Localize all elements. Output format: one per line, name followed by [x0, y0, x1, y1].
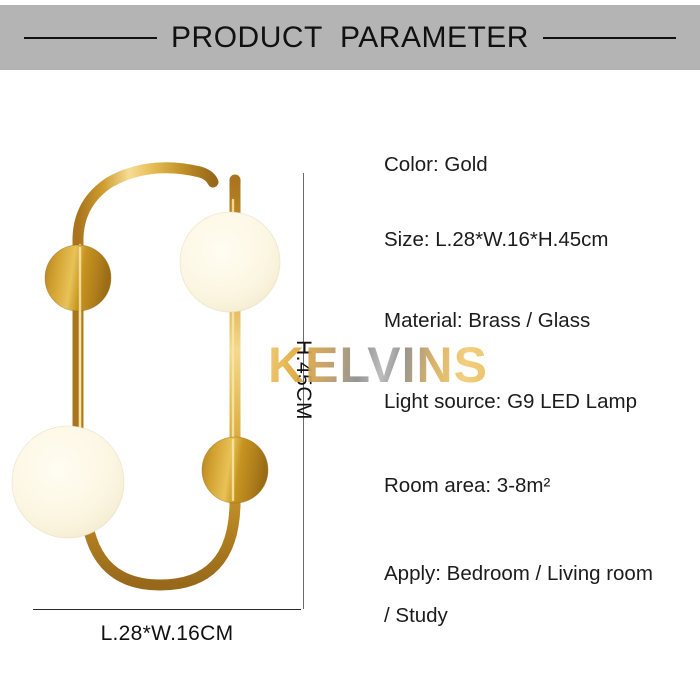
- upper-glass-globe: [180, 212, 280, 312]
- spec-color: Color: Gold: [384, 152, 684, 178]
- product-parameter-page: PRODUCT PARAMETER: [0, 0, 700, 700]
- header-banner: PRODUCT PARAMETER: [0, 5, 700, 70]
- spec-apply-continued: / Study: [384, 603, 684, 629]
- width-dimension-label: L.28*W.16CM: [33, 622, 301, 646]
- height-dimension-label: H.45CM: [291, 340, 315, 420]
- spec-apply: Apply: Bedroom / Living room: [384, 561, 684, 587]
- spec-material: Material: Brass / Glass: [384, 308, 684, 334]
- width-dimension-line: [33, 609, 301, 610]
- spec-light-source: Light source: G9 LED Lamp: [384, 389, 684, 415]
- specification-list: Color: Gold Size: L.28*W.16*H.45cm Mater…: [384, 152, 684, 629]
- spec-room-area: Room area: 3-8m²: [384, 473, 684, 499]
- lower-glass-globe: [12, 426, 124, 538]
- product-illustration: [0, 140, 300, 610]
- header-rule-right: [543, 37, 676, 39]
- page-title: PRODUCT PARAMETER: [171, 21, 529, 55]
- spec-size: Size: L.28*W.16*H.45cm: [384, 227, 684, 253]
- header-rule-left: [24, 37, 157, 39]
